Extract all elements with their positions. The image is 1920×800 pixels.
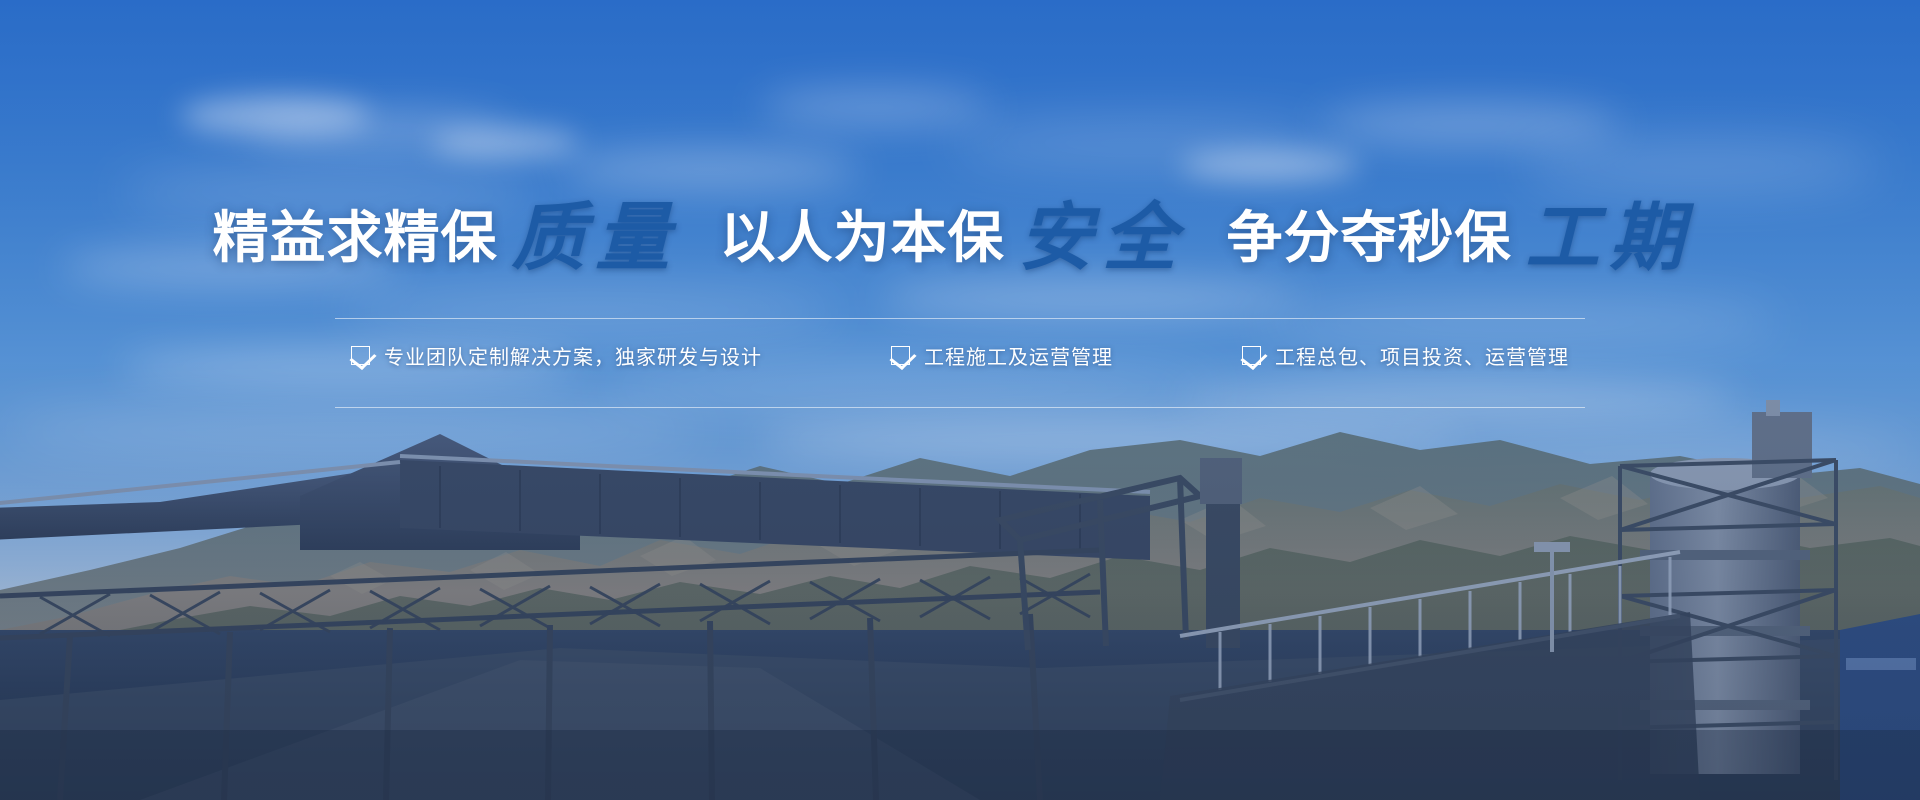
feature-item-1[interactable]: 专业团队定制解决方案，独家研发与设计 xyxy=(351,341,762,370)
feature-label-1: 专业团队定制解决方案，独家研发与设计 xyxy=(384,341,762,370)
checkbox-checked-icon xyxy=(1242,346,1261,365)
feature-item-3[interactable]: 工程总包、项目投资、运营管理 xyxy=(1242,341,1569,370)
hero-headline: 精益求精保 质量 以人为本保 安全 争分夺秒保 工期 xyxy=(213,196,1708,270)
headline-segment-brush-schedule: 工期 xyxy=(1512,202,1708,276)
feature-list: 专业团队定制解决方案，独家研发与设计 工程施工及运营管理 工程总包、项目投资、运… xyxy=(335,341,1585,370)
checkbox-checked-icon xyxy=(891,346,910,365)
feature-label-2: 工程施工及运营管理 xyxy=(924,341,1113,370)
headline-segment-plain-3: 争分夺秒保 xyxy=(1227,210,1512,266)
checkbox-checked-icon xyxy=(351,346,370,365)
headline-segment-plain-2: 以人为本保 xyxy=(720,210,1005,266)
feature-label-3: 工程总包、项目投资、运营管理 xyxy=(1275,341,1569,370)
headline-segment-brush-safety: 安全 xyxy=(1005,202,1201,276)
headline-segment-plain-1: 精益求精保 xyxy=(213,210,498,266)
industrial-plant-foreground xyxy=(0,400,1920,800)
hero-banner: 精益求精保 质量 以人为本保 安全 争分夺秒保 工期 专业团队定制解决方案，独家… xyxy=(0,0,1920,800)
feature-item-2[interactable]: 工程施工及运营管理 xyxy=(891,341,1113,370)
headline-segment-brush-quality: 质量 xyxy=(498,202,694,276)
